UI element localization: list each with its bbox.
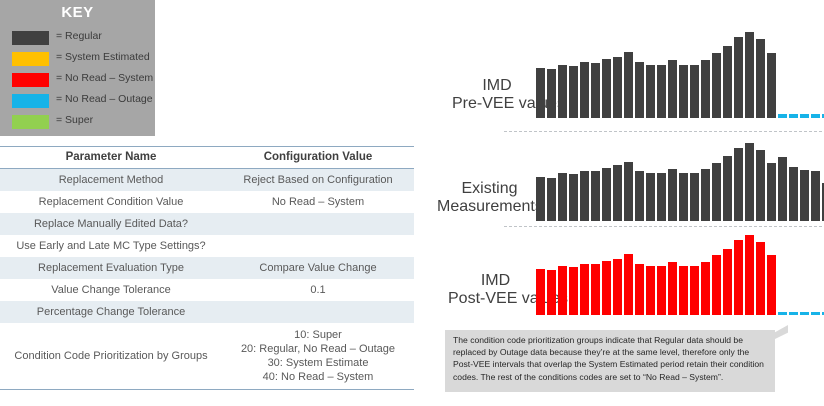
key-legend-box: KEY = Regular = System Estimated = No Re…: [0, 0, 155, 136]
bar: [778, 312, 787, 315]
bar: [635, 62, 644, 118]
bar: [569, 267, 578, 315]
key-item-system-estimated: = System Estimated: [12, 52, 152, 66]
bar: [701, 169, 710, 221]
bar: [778, 114, 787, 118]
chart-label-line2: Post-VEE values: [448, 290, 543, 308]
chart-label-line1: Existing: [437, 180, 542, 198]
cell-configuration-value: 0.1: [222, 279, 414, 301]
bar: [734, 37, 743, 118]
key-item-regular: = Regular: [12, 31, 152, 45]
bar: [657, 173, 666, 221]
bar: [679, 65, 688, 118]
bar: [690, 173, 699, 221]
bar: [646, 266, 655, 315]
bar: [602, 168, 611, 221]
bar: [734, 148, 743, 221]
table-row: Condition Code Prioritization by Groups …: [0, 323, 414, 390]
bar: [536, 68, 545, 118]
bar: [745, 32, 754, 118]
table-row: Replacement Method Reject Based on Confi…: [0, 169, 414, 192]
bar: [690, 65, 699, 118]
table-row: Replacement Evaluation Type Compare Valu…: [0, 257, 414, 279]
bar: [800, 170, 809, 221]
chart-label-existing: Existing Measurements: [437, 180, 542, 217]
column-header-configuration-value: Configuration Value: [222, 147, 414, 169]
baseline-existing: [504, 226, 822, 227]
color-swatch-no-read-outage: [12, 94, 49, 108]
bar: [613, 165, 622, 221]
bar: [580, 264, 589, 315]
column-header-parameter-name: Parameter Name: [0, 147, 222, 169]
bar: [591, 63, 600, 118]
bar: [811, 171, 820, 221]
key-label-super: = Super: [56, 114, 93, 126]
table-row: Percentage Change Tolerance: [0, 301, 414, 323]
bar: [712, 53, 721, 118]
bar: [558, 65, 567, 118]
parameter-configuration-table: Parameter Name Configuration Value Repla…: [0, 146, 414, 390]
chart-label-pre-vee: IMD Pre-VEE values: [452, 77, 542, 114]
cell-parameter-name: Replacement Evaluation Type: [0, 257, 222, 279]
bar: [723, 156, 732, 221]
cell-configuration-value: 10: Super 20: Regular, No Read – Outage …: [222, 323, 414, 390]
cell-parameter-name: Value Change Tolerance: [0, 279, 222, 301]
bar: [569, 66, 578, 118]
bar: [723, 46, 732, 118]
cell-configuration-value: [222, 213, 414, 235]
key-title: KEY: [0, 4, 155, 21]
bar: [558, 173, 567, 221]
bar: [800, 312, 809, 315]
bar: [547, 178, 556, 221]
cell-parameter-name: Use Early and Late MC Type Settings?: [0, 235, 222, 257]
callout-text: The condition code prioritization groups…: [453, 334, 769, 383]
bar: [657, 266, 666, 315]
bar: [767, 255, 776, 315]
bar: [536, 269, 545, 315]
bar: [723, 249, 732, 315]
bar: [613, 57, 622, 118]
bar: [657, 65, 666, 118]
table-row: Use Early and Late MC Type Settings?: [0, 235, 414, 257]
cell-parameter-name: Replacement Method: [0, 169, 222, 192]
bar: [756, 150, 765, 221]
bar: [635, 171, 644, 221]
bar: [767, 53, 776, 118]
bar: [789, 114, 798, 118]
bar: [679, 266, 688, 315]
cell-configuration-value: [222, 235, 414, 257]
bar: [635, 264, 644, 315]
bar: [624, 254, 633, 315]
bar: [558, 266, 567, 315]
bar: [811, 312, 820, 315]
bar: [767, 163, 776, 221]
bar: [811, 114, 820, 118]
color-swatch-no-read-system: [12, 73, 49, 87]
chart-label-line2: Measurements: [437, 198, 542, 216]
table-header-row: Parameter Name Configuration Value: [0, 147, 414, 169]
bar-series-pre-vee: [536, 28, 824, 118]
color-swatch-super: [12, 115, 49, 129]
chart-label-post-vee: IMD Post-VEE values: [448, 272, 543, 309]
bar: [536, 177, 545, 221]
bar: [624, 162, 633, 221]
color-swatch-regular: [12, 31, 49, 45]
baseline-pre-vee: [504, 131, 822, 132]
key-item-no-read-outage: = No Read – Outage: [12, 94, 152, 108]
bar: [591, 171, 600, 221]
bar: [745, 143, 754, 221]
bar: [712, 163, 721, 221]
bar: [613, 259, 622, 315]
bar: [789, 312, 798, 315]
key-label-system-estimated: = System Estimated: [56, 51, 150, 63]
bar: [789, 167, 798, 221]
key-item-no-read-system: = No Read – System: [12, 73, 152, 87]
chart-label-line2: Pre-VEE values: [452, 95, 542, 113]
cell-configuration-value: No Read – System: [222, 191, 414, 213]
cell-configuration-value: Reject Based on Configuration: [222, 169, 414, 192]
cell-parameter-name: Condition Code Prioritization by Groups: [0, 323, 222, 390]
bar-series-existing: [536, 141, 824, 221]
bar: [580, 62, 589, 118]
key-label-regular: = Regular: [56, 30, 102, 42]
cell-parameter-name: Replace Manually Edited Data?: [0, 213, 222, 235]
color-swatch-system-estimated: [12, 52, 49, 66]
bar: [602, 59, 611, 118]
bar: [745, 235, 754, 315]
bar: [591, 264, 600, 315]
bar: [679, 173, 688, 221]
bar: [569, 174, 578, 221]
bar: [646, 173, 655, 221]
chart-label-line1: IMD: [448, 272, 543, 290]
chart-label-line1: IMD: [452, 77, 542, 95]
callout-box: The condition code prioritization groups…: [445, 330, 775, 392]
cell-parameter-name: Percentage Change Tolerance: [0, 301, 222, 323]
bar: [800, 114, 809, 118]
cell-parameter-name: Replacement Condition Value: [0, 191, 222, 213]
bar: [547, 270, 556, 315]
bar-series-post-vee: [536, 232, 824, 315]
bar: [580, 171, 589, 221]
cell-configuration-value: [222, 301, 414, 323]
bar: [778, 157, 787, 221]
bar: [668, 262, 677, 315]
bar: [756, 39, 765, 118]
bar: [624, 52, 633, 118]
key-label-no-read-outage: = No Read – Outage: [56, 93, 153, 105]
key-label-no-read-system: = No Read – System: [56, 72, 153, 84]
bar: [734, 240, 743, 315]
bar: [646, 65, 655, 118]
bar: [701, 60, 710, 118]
table-row: Replace Manually Edited Data?: [0, 213, 414, 235]
bar: [668, 169, 677, 221]
table-row: Replacement Condition Value No Read – Sy…: [0, 191, 414, 213]
cell-configuration-value: Compare Value Change: [222, 257, 414, 279]
table-row: Value Change Tolerance 0.1: [0, 279, 414, 301]
bar: [602, 261, 611, 315]
bar: [668, 60, 677, 118]
bar: [701, 262, 710, 315]
bar: [690, 266, 699, 315]
key-item-super: = Super: [12, 115, 152, 129]
bar: [547, 69, 556, 118]
bar: [712, 255, 721, 315]
bar: [756, 242, 765, 315]
